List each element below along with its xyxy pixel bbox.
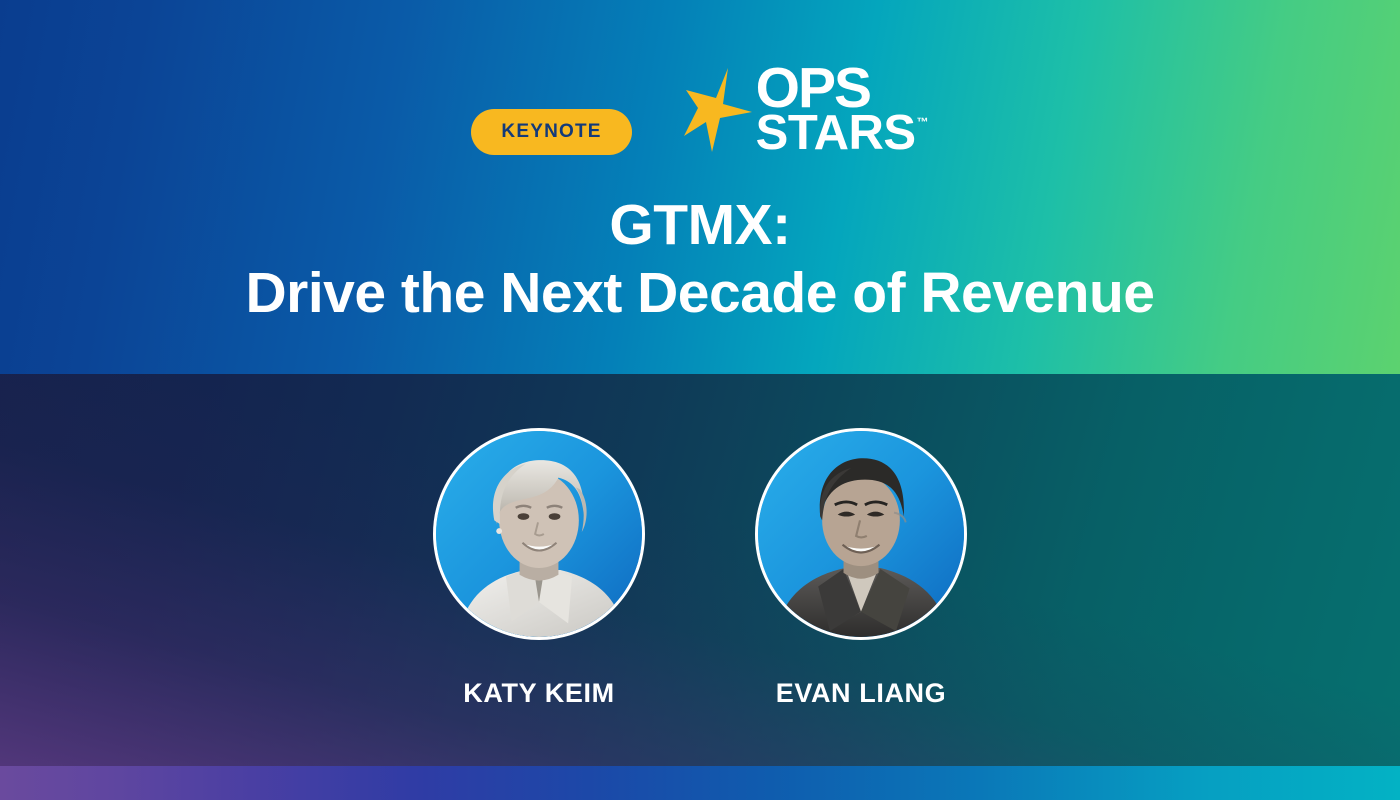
background-band-bottom [0, 766, 1400, 800]
evan-liang-headshot-illustration [758, 431, 964, 637]
speaker-list: KATY KEIM [0, 428, 1400, 709]
opsstars-wordmark: OPS STARS ™ [756, 65, 929, 154]
katy-keim-headshot-illustration [436, 431, 642, 637]
avatar [755, 428, 967, 640]
session-title-line-1: GTMX: [0, 196, 1400, 254]
opsstars-logo: OPS STARS ™ [684, 65, 929, 154]
speaker-card-0: KATY KEIM [432, 428, 646, 709]
logo-word-stars: STARS [756, 113, 916, 154]
header: KEYNOTE OPS STARS ™ [0, 62, 1400, 158]
trademark-symbol: ™ [917, 117, 929, 127]
session-title: GTMX: Drive the Next Decade of Revenue [0, 196, 1400, 322]
star-icon [684, 68, 752, 152]
speaker-name: KATY KEIM [432, 678, 646, 709]
session-title-line-2: Drive the Next Decade of Revenue [0, 264, 1400, 322]
speaker-name: EVAN LIANG [754, 678, 968, 709]
logo-bottom-row: STARS ™ [756, 113, 929, 154]
keynote-session-slide: KEYNOTE OPS STARS ™ GTMX: Drive the Next… [0, 0, 1400, 800]
speaker-card-1: EVAN LIANG [754, 428, 968, 709]
keynote-badge: KEYNOTE [471, 109, 631, 155]
avatar [433, 428, 645, 640]
